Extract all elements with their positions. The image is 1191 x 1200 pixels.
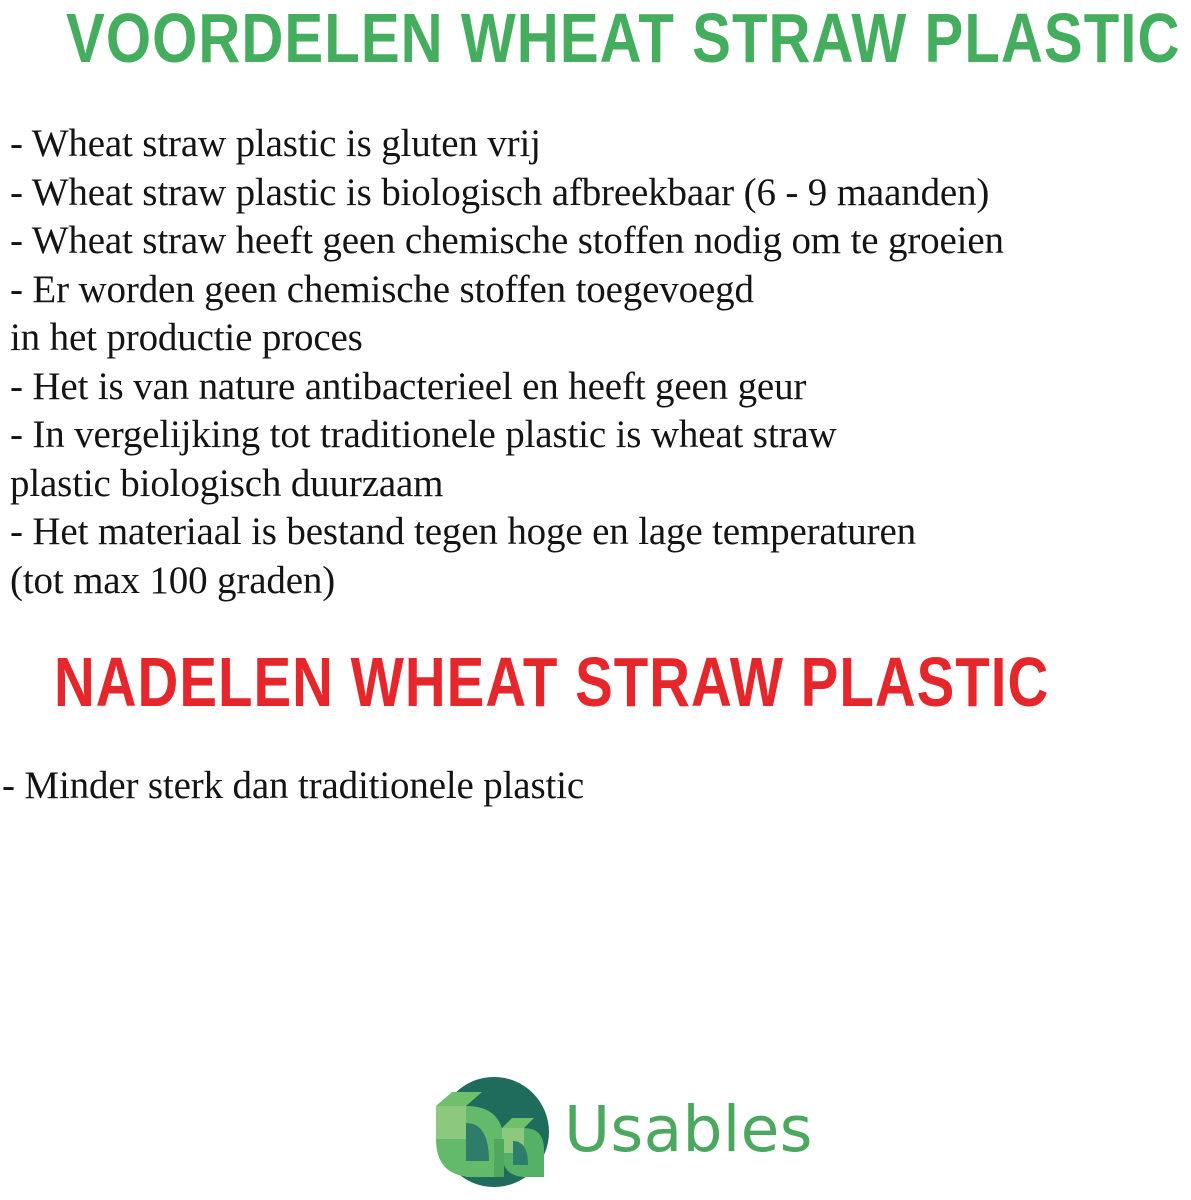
advantages-heading: VOORDELEN WHEAT STRAW PLASTIC: [66, 4, 1181, 73]
list-item-continuation: (tot max 100 graden): [10, 557, 1004, 606]
list-item: - Wheat straw heeft geen chemische stoff…: [10, 217, 1004, 266]
list-item: - Wheat straw plastic is biologisch afbr…: [10, 169, 1004, 218]
list-item: - Het is van nature antibacterieel en he…: [10, 363, 1004, 412]
usables-leaf-logo-icon: [432, 1073, 550, 1191]
list-item: - In vergelijking tot traditionele plast…: [10, 411, 1004, 460]
list-item-continuation: plastic biologisch duurzaam: [10, 460, 1004, 509]
disadvantages-heading: NADELEN WHEAT STRAW PLASTIC: [54, 648, 1049, 717]
infographic-page: VOORDELEN WHEAT STRAW PLASTIC - Wheat st…: [0, 0, 1191, 1200]
list-item: - Er worden geen chemische stoffen toege…: [10, 266, 1004, 315]
list-item: - Het materiaal is bestand tegen hoge en…: [10, 508, 1004, 557]
advantages-list: - Wheat straw plastic is gluten vrij - W…: [10, 120, 1004, 605]
disadvantages-list: - Minder sterk dan traditionele plastic: [2, 762, 584, 811]
list-item: - Minder sterk dan traditionele plastic: [2, 762, 584, 811]
list-item: - Wheat straw plastic is gluten vrij: [10, 120, 1004, 169]
logo-wordmark: Usables: [564, 1098, 813, 1161]
list-item-continuation: in het productie proces: [10, 314, 1004, 363]
usables-logo: Usables: [432, 1072, 804, 1192]
